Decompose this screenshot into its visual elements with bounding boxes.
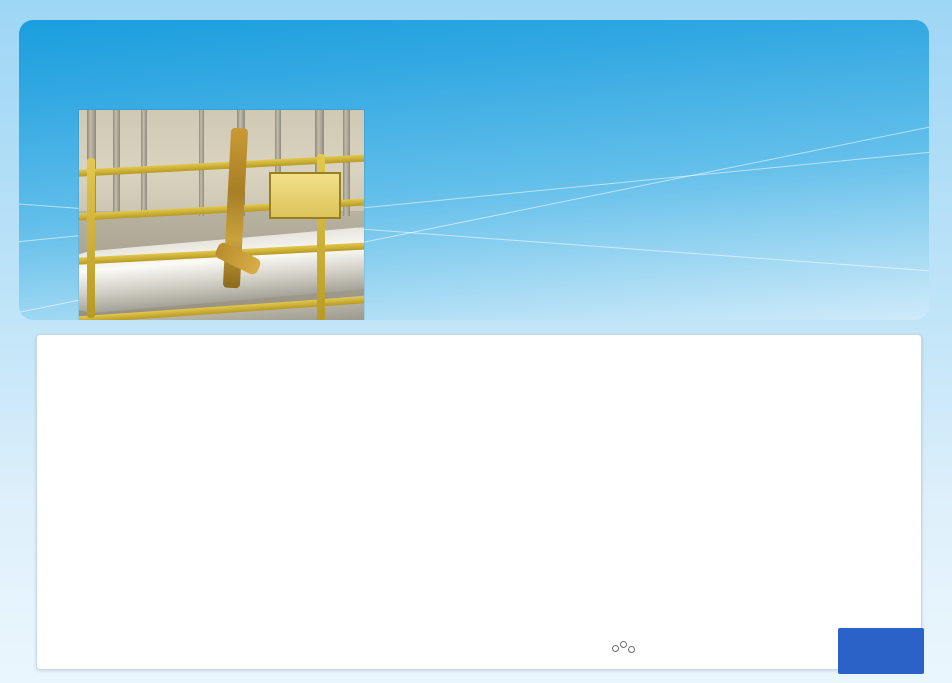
photo-rail-post xyxy=(87,158,95,318)
site-photo xyxy=(79,110,364,320)
title-slide-panel xyxy=(19,20,929,320)
warning-sign xyxy=(269,172,341,219)
guided-wave-chart-card xyxy=(36,334,922,670)
photo-vertical-pipe xyxy=(113,110,120,216)
photo-vertical-pipe xyxy=(141,110,147,216)
guided-wave-plots xyxy=(37,335,921,669)
watermark-logo xyxy=(838,628,924,674)
